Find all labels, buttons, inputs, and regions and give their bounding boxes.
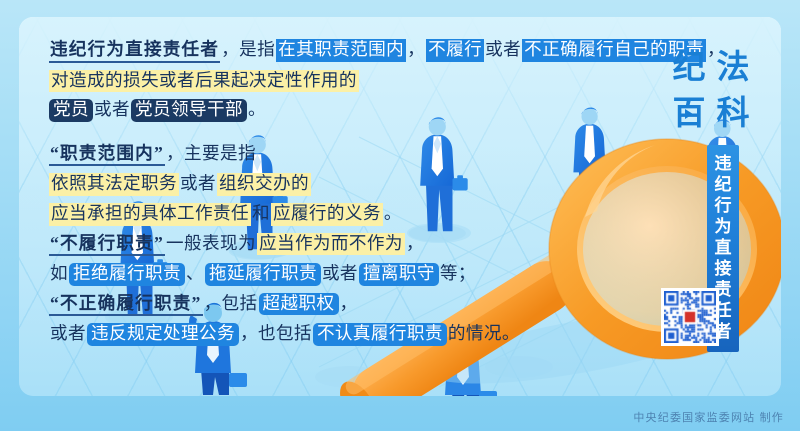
text-run: 、 bbox=[185, 263, 205, 285]
highlight-blue: 不履行 bbox=[426, 39, 484, 62]
text-run: 。 bbox=[247, 99, 267, 121]
vertical-title-char: 直 bbox=[707, 237, 739, 258]
text-line: 应当承担的具体工作责任和应履行的义务。 bbox=[49, 203, 694, 226]
text-run: 或者 bbox=[321, 263, 359, 285]
text-run: 和 bbox=[251, 203, 271, 225]
text-run: ， bbox=[339, 293, 359, 315]
headword-term: “职责范围内” bbox=[49, 143, 165, 167]
pill-navy: 党员领导干部 bbox=[131, 99, 247, 122]
qr-code[interactable] bbox=[661, 288, 719, 346]
poster-infographic: 违纪行为直接责任者，是指在其职责范围内，不履行或者不正确履行自己的职责， 对造成… bbox=[0, 0, 800, 431]
text-line: 党员或者党员领导干部。 bbox=[49, 99, 694, 122]
text-line: 如拒绝履行职责、拖延履行职责或者擅离职守等； bbox=[49, 263, 694, 286]
text-run: ，包括 bbox=[203, 293, 259, 315]
text-run: 等； bbox=[439, 263, 477, 285]
text-run: 如 bbox=[49, 263, 69, 285]
text-run: 一般表现为 bbox=[165, 233, 257, 255]
pill-blue: 不认真履行职责 bbox=[313, 323, 447, 346]
highlight-yellow: 组织交办的 bbox=[217, 173, 311, 196]
logo-char-ji: 纪 bbox=[673, 50, 706, 83]
text-line: “不履行职责”一般表现为应当作为而不作为， bbox=[49, 233, 694, 257]
paragraph-spacer bbox=[49, 129, 694, 143]
text-run: ，是指 bbox=[220, 39, 276, 61]
pill-blue: 拒绝履行职责 bbox=[69, 263, 185, 286]
headword-term: “不履行职责” bbox=[49, 233, 165, 257]
text-run: 或者 bbox=[49, 323, 87, 345]
headword-term: 违纪行为直接责任者 bbox=[49, 39, 220, 63]
text-run: 或者 bbox=[93, 99, 131, 121]
pill-navy: 党员 bbox=[49, 99, 93, 122]
pill-blue: 擅离职守 bbox=[359, 263, 439, 286]
play-icon bbox=[685, 109, 693, 119]
highlight-yellow: 应当作为而不作为 bbox=[257, 233, 405, 256]
text-line: “职责范围内”，主要是指 bbox=[49, 143, 694, 167]
text-run: 或者 bbox=[484, 39, 522, 61]
inner-panel: 违纪行为直接责任者，是指在其职责范围内，不履行或者不正确履行自己的职责， 对造成… bbox=[19, 17, 781, 396]
highlight-yellow: 依照其法定职务 bbox=[49, 173, 179, 196]
brand-logo: 纪 法 百 科 bbox=[667, 43, 759, 139]
headword-term: “不正确履行职责” bbox=[49, 293, 203, 317]
highlight-yellow: 对造成的损失或者后果起决定性作用的 bbox=[49, 70, 359, 93]
text-run: ，主要是指 bbox=[165, 143, 257, 165]
text-line: “不正确履行职责”，包括超越职权， bbox=[49, 293, 694, 317]
highlight-blue: 在其职责范围内 bbox=[276, 39, 406, 62]
text-line: 违纪行为直接责任者，是指在其职责范围内，不履行或者不正确履行自己的职责， bbox=[49, 39, 694, 63]
pill-blue: 超越职权 bbox=[259, 293, 339, 316]
text-run: ， bbox=[405, 233, 425, 255]
body-text: 违纪行为直接责任者，是指在其职责范围内，不履行或者不正确履行自己的职责， 对造成… bbox=[49, 39, 694, 353]
text-run: ，也包括 bbox=[239, 323, 313, 345]
text-run: 的情况。 bbox=[447, 323, 521, 345]
text-run: 或者 bbox=[179, 173, 217, 195]
vertical-title-char: 接 bbox=[707, 258, 739, 279]
footer-credit: 中央纪委国家监委网站 制作 bbox=[633, 409, 784, 425]
text-line: 对造成的损失或者后果起决定性作用的 bbox=[49, 70, 694, 93]
text-line: 或者违反规定处理公务，也包括不认真履行职责的情况。 bbox=[49, 323, 694, 346]
text-line: 依照其法定职务或者组织交办的 bbox=[49, 173, 694, 196]
logo-char-bai: 百 bbox=[673, 96, 706, 129]
pill-blue: 违反规定处理公务 bbox=[87, 323, 239, 346]
vertical-title-char: 为 bbox=[707, 216, 739, 237]
highlight-yellow: 应当承担的具体工作责任 bbox=[49, 203, 251, 226]
pill-blue: 拖延履行职责 bbox=[205, 263, 321, 286]
vertical-title-char: 违 bbox=[707, 153, 739, 174]
logo-char-ke: 科 bbox=[717, 96, 750, 129]
logo-char-fa: 法 bbox=[717, 50, 750, 83]
text-run: 。 bbox=[383, 203, 403, 225]
vertical-title-char: 纪 bbox=[707, 174, 739, 195]
vertical-title-char: 行 bbox=[707, 195, 739, 216]
text-run: ， bbox=[406, 39, 426, 61]
highlight-yellow: 应履行的义务 bbox=[271, 203, 383, 226]
